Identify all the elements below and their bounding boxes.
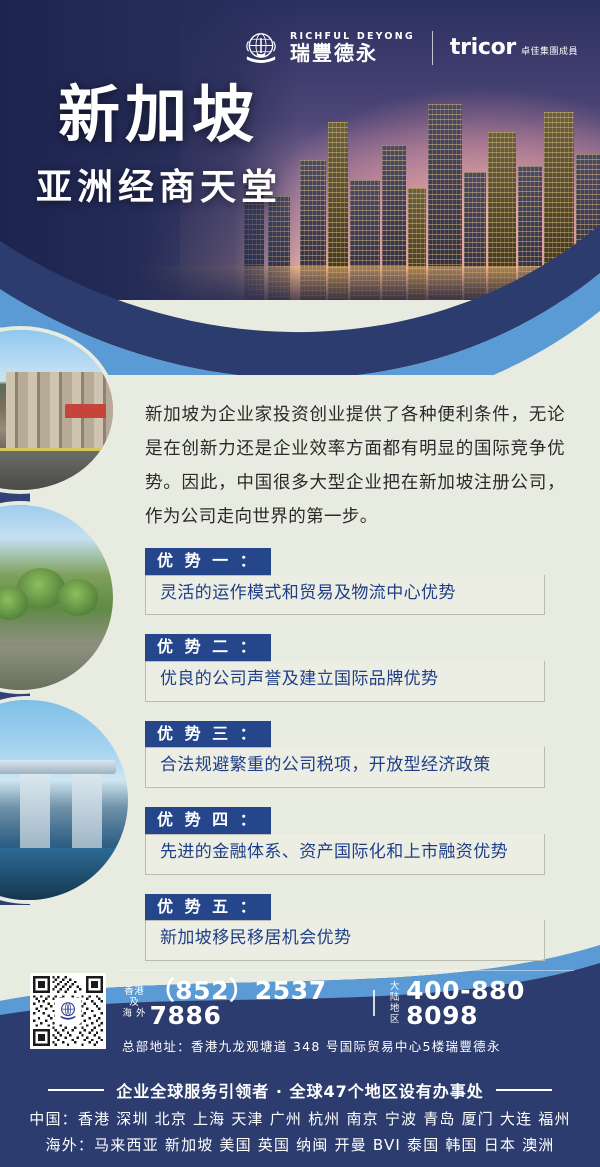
poster-root: 新加坡 亚洲经商天堂 RICHFUL DEYONG 瑞豐德永 tri	[0, 0, 600, 1167]
contact-details: 香港及 海 外 （852）2537 7886 大陆 地区 400-880 809…	[106, 968, 570, 1055]
advantage-badge: 优 势 二 ：	[145, 634, 271, 661]
advantage-text: 先进的金融体系、资产国际化和上市融资优势	[145, 834, 545, 875]
advantage-item: 优 势 五 ： 新加坡移民移居机会优势	[145, 894, 545, 961]
cn-phone-number[interactable]: 400-880 8098	[406, 978, 570, 1028]
logo-divider	[432, 31, 433, 65]
qr-center-crest-icon	[55, 998, 81, 1024]
photo-circle-marina-bay	[0, 700, 128, 900]
advantage-text: 合法规避繁重的公司税项，开放型经济政策	[145, 747, 545, 788]
advantage-item: 优 势 四 ： 先进的金融体系、资产国际化和上市融资优势	[145, 807, 545, 874]
tagline-row: 企业全球服务引领者 · 全球47个地区设有办事处	[0, 1078, 600, 1102]
partner-name: tricor	[450, 37, 516, 59]
tagline-rule-right	[496, 1089, 552, 1091]
advantage-text: 新加坡移民移居机会优势	[145, 920, 545, 961]
advantage-item: 优 势 一 ： 灵活的运作模式和贸易及物流中心优势	[145, 548, 545, 615]
advantage-badge: 优 势 四 ：	[145, 807, 271, 834]
tagline-text: 企业全球服务引领者 · 全球47个地区设有办事处	[116, 1078, 484, 1102]
brand-name-cn: 瑞豐德永	[290, 42, 415, 65]
advantage-item: 优 势 二 ： 优良的公司声誉及建立国际品牌优势	[145, 634, 545, 701]
tagline-rule-left	[48, 1089, 104, 1091]
advantage-badge: 优 势 五 ：	[145, 894, 271, 921]
hk-phone-number[interactable]: （852）2537 7886	[150, 978, 362, 1028]
advantage-item: 优 势 三 ： 合法规避繁重的公司税项，开放型经济政策	[145, 721, 545, 788]
advantage-text: 灵活的运作模式和贸易及物流中心优势	[145, 575, 545, 616]
phone-separator	[373, 990, 375, 1016]
advantages-list: 优 势 一 ： 灵活的运作模式和贸易及物流中心优势 优 势 二 ： 优良的公司声…	[145, 548, 545, 980]
phone-row: 香港及 海 外 （852）2537 7886 大陆 地区 400-880 809…	[122, 968, 570, 1028]
brand-logo-lockup: RICHFUL DEYONG 瑞豐德永 tricor 卓佳集團成員	[241, 28, 578, 68]
photo-circle-street	[0, 330, 113, 490]
advantage-badge: 优 势 一 ：	[145, 548, 271, 575]
page-subtitle: 亚洲经商天堂	[36, 170, 282, 206]
advantage-badge: 优 势 三 ：	[145, 721, 271, 748]
intro-paragraph: 新加坡为企业家投资创业提供了各种便利条件，无论是在创新力还是企业效率方面都有明显…	[145, 398, 565, 534]
globe-crest-icon	[241, 28, 281, 68]
wechat-qr-code[interactable]	[30, 973, 106, 1049]
partner-subtitle: 卓佳集團成員	[521, 48, 578, 59]
contact-rule	[122, 970, 574, 971]
contact-row: 香港及 海 外 （852）2537 7886 大陆 地区 400-880 809…	[30, 972, 570, 1050]
photo-circle-riverside	[0, 505, 113, 690]
page-title: 新加坡	[58, 84, 259, 146]
regions-overseas: 海外：马来西亚 新加坡 美国 英国 纳闽 开曼 BVI 泰国 韩国 日本 澳洲	[0, 1132, 600, 1158]
cn-phone-label: 大陆 地区	[387, 981, 403, 1025]
regions-china: 中国：香港 深圳 北京 上海 天津 广州 杭州 南京 宁波 青岛 厦门 大连 福…	[0, 1106, 600, 1132]
head-office-address: 总部地址：香港九龙观塘道 348 号国际贸易中心5楼瑞豐德永	[122, 1036, 570, 1055]
hk-phone-label: 香港及 海 外	[122, 986, 147, 1019]
advantage-text: 优良的公司声誉及建立国际品牌优势	[145, 661, 545, 702]
regions-block: 中国：香港 深圳 北京 上海 天津 广州 杭州 南京 宁波 青岛 厦门 大连 福…	[0, 1106, 600, 1158]
